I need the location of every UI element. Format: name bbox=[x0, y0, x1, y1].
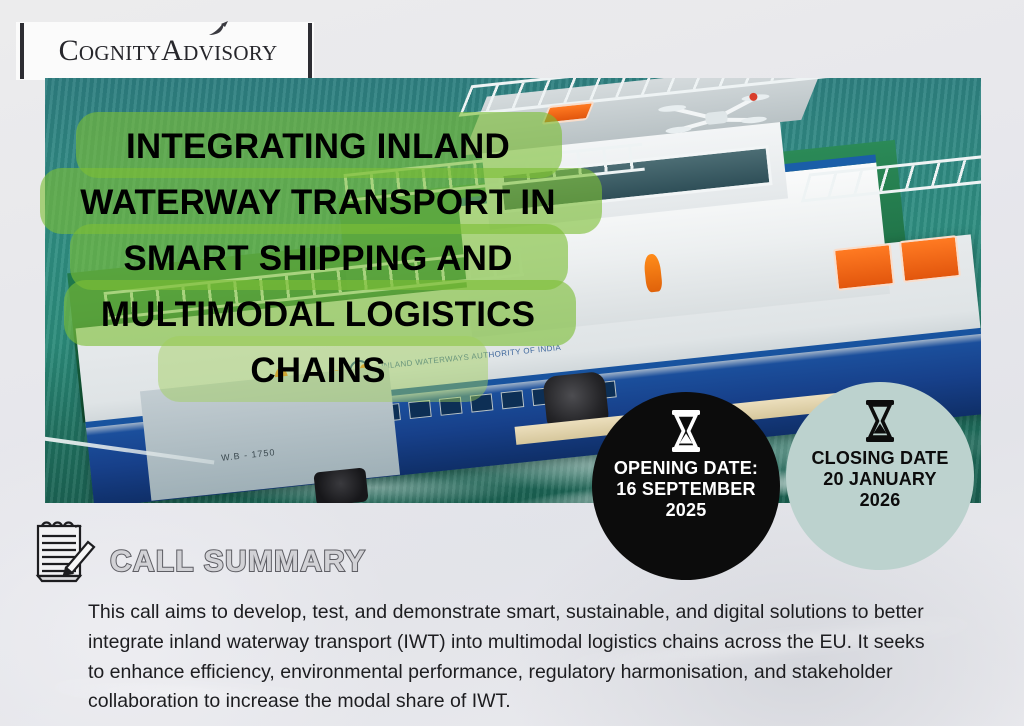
closing-date-text: CLOSING DATE 20 JANUARY 2026 bbox=[811, 448, 948, 512]
notepad-pencil-icon bbox=[30, 516, 98, 586]
title-line: INTEGRATING INLAND bbox=[18, 118, 618, 174]
badge-line: CLOSING DATE bbox=[811, 448, 948, 469]
bird-feather-icon bbox=[208, 21, 230, 37]
call-summary-header: CALL SUMMARY bbox=[30, 516, 366, 586]
title-line-text: SMART SHIPPING AND bbox=[123, 241, 512, 276]
badge-line: 16 SEPTEMBER bbox=[614, 479, 758, 500]
badge-line: 2025 bbox=[614, 500, 758, 521]
life-raft bbox=[833, 243, 895, 291]
title-line-text: MULTIMODAL LOGISTICS bbox=[101, 297, 535, 332]
call-summary-heading: CALL SUMMARY bbox=[110, 545, 366, 579]
poster-canvas: CognityAdvisory INLAND WATERWAYS AUTHORI… bbox=[0, 0, 1024, 726]
brand-logo[interactable]: CognityAdvisory bbox=[16, 22, 314, 80]
title-line-text: WATERWAY TRANSPORT IN bbox=[80, 185, 555, 220]
brand-logo-text: CognityAdvisory bbox=[53, 34, 278, 68]
closing-date-badge[interactable]: CLOSING DATE 20 JANUARY 2026 bbox=[786, 382, 974, 570]
poster-title: INTEGRATING INLAND WATERWAY TRANSPORT IN… bbox=[18, 118, 618, 398]
opening-date-badge[interactable]: OPENING DATE: 16 SEPTEMBER 2025 bbox=[592, 392, 780, 580]
opening-date-text: OPENING DATE: 16 SEPTEMBER 2025 bbox=[614, 458, 758, 522]
badge-line: 2026 bbox=[811, 490, 948, 511]
title-line: WATERWAY TRANSPORT IN bbox=[18, 174, 618, 230]
badge-line: OPENING DATE: bbox=[614, 458, 758, 479]
title-line: CHAINS bbox=[18, 342, 618, 398]
hourglass-icon bbox=[669, 410, 703, 452]
hourglass-icon bbox=[863, 400, 897, 442]
anchor-gear bbox=[313, 467, 368, 503]
badge-line: 20 JANUARY bbox=[811, 469, 948, 490]
title-line-text: INTEGRATING INLAND bbox=[126, 129, 510, 164]
title-line: SMART SHIPPING AND bbox=[18, 230, 618, 286]
title-line: MULTIMODAL LOGISTICS bbox=[18, 286, 618, 342]
title-line-text: CHAINS bbox=[250, 353, 385, 388]
life-raft bbox=[899, 235, 961, 283]
call-summary-body: This call aims to develop, test, and dem… bbox=[88, 598, 930, 717]
